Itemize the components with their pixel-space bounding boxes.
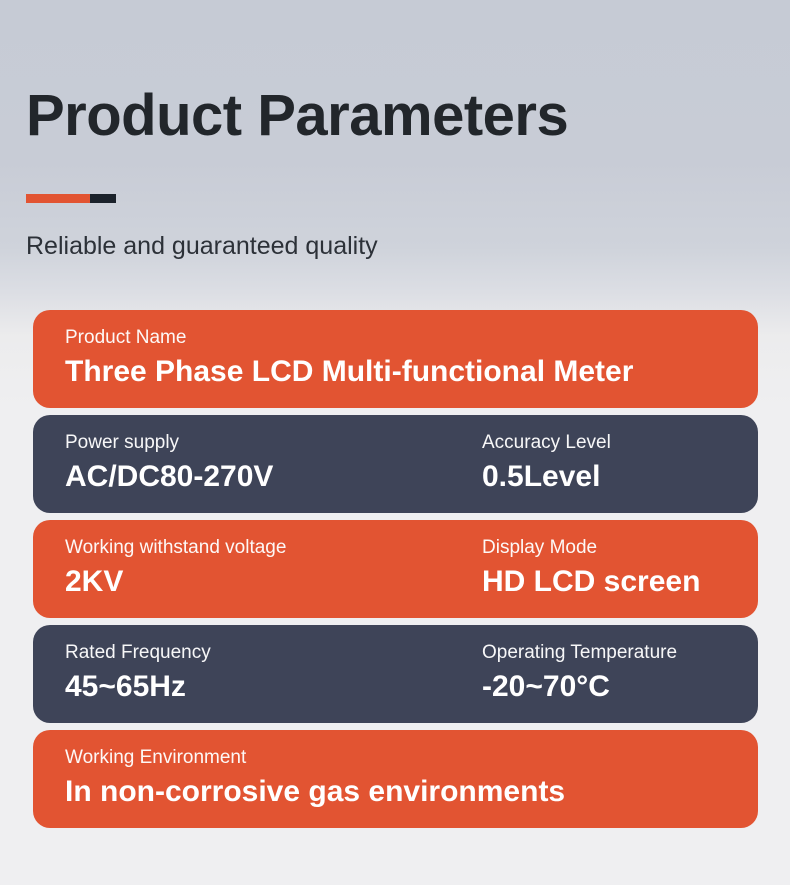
spec-field-right: Accuracy Level0.5Level [450,429,758,497]
spec-value: Three Phase LCD Multi-functional Meter [65,352,758,391]
spec-card: Product NameThree Phase LCD Multi-functi… [33,310,758,408]
spec-field-left: Working withstand voltage2KV [33,534,450,602]
spec-label: Display Mode [482,535,758,561]
accent-divider-primary-segment [26,194,90,203]
spec-field-left: Product NameThree Phase LCD Multi-functi… [33,324,758,392]
spec-field-left: Rated Frequency45~65Hz [33,639,450,707]
spec-card: Rated Frequency45~65HzOperating Temperat… [33,625,758,723]
spec-card: Power supplyAC/DC80-270VAccuracy Level0.… [33,415,758,513]
page-header: Product Parameters [26,86,764,147]
spec-label: Power supply [65,430,450,456]
spec-value: HD LCD screen [482,562,758,601]
spec-label: Product Name [65,325,758,351]
page-subtitle: Reliable and guaranteed quality [26,231,378,261]
spec-field-right: Operating Temperature-20~70°C [450,639,758,707]
spec-value: AC/DC80-270V [65,457,450,496]
spec-card-list: Product NameThree Phase LCD Multi-functi… [33,310,758,828]
spec-value: 45~65Hz [65,667,450,706]
spec-value: -20~70°C [482,667,758,706]
spec-value: 0.5Level [482,457,758,496]
spec-card: Working EnvironmentIn non-corrosive gas … [33,730,758,828]
page-title: Product Parameters [26,86,764,147]
spec-card: Working withstand voltage2KVDisplay Mode… [33,520,758,618]
spec-label: Working withstand voltage [65,535,450,561]
spec-field-right: Display ModeHD LCD screen [450,534,758,602]
spec-value: 2KV [65,562,450,601]
spec-label: Working Environment [65,745,758,771]
accent-divider [26,194,116,203]
spec-field-left: Power supplyAC/DC80-270V [33,429,450,497]
spec-label: Accuracy Level [482,430,758,456]
product-parameters-page: Product Parameters Reliable and guarante… [0,0,790,885]
spec-field-left: Working EnvironmentIn non-corrosive gas … [33,744,758,812]
spec-value: In non-corrosive gas environments [65,772,758,811]
spec-label: Rated Frequency [65,640,450,666]
spec-label: Operating Temperature [482,640,758,666]
accent-divider-secondary-segment [90,194,116,203]
